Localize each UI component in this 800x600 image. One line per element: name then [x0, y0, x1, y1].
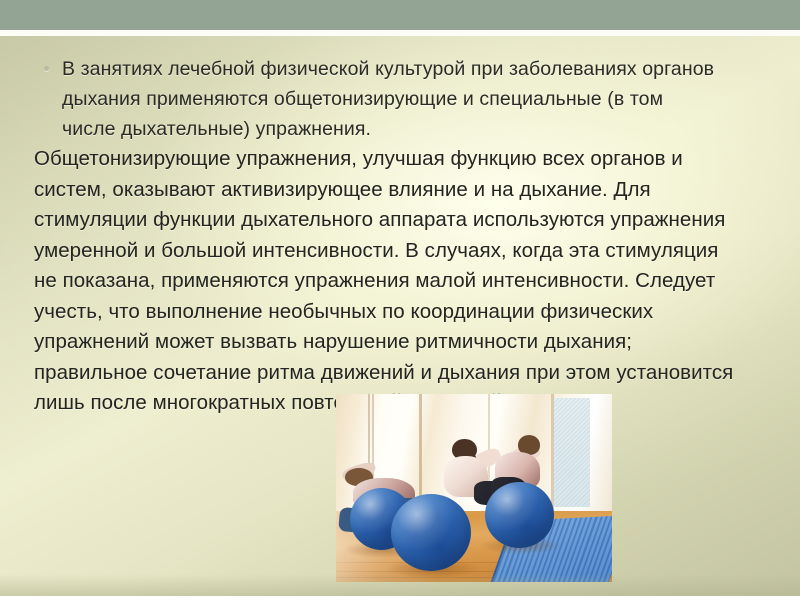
bullet-paragraph-text: В занятиях лечебной физической культурой…	[62, 58, 714, 140]
bullet-point-icon	[44, 66, 49, 71]
slide-text-block: В занятиях лечебной физической культурой…	[0, 36, 760, 419]
slide-photo	[336, 394, 612, 582]
photo-scene	[336, 394, 612, 582]
body-paragraph: Общетонизирующие упражнения, улучшая фун…	[0, 144, 760, 419]
bullet-paragraph: В занятиях лечебной физической культурой…	[0, 54, 760, 144]
viewer-top-band	[0, 0, 800, 30]
exercise-ball	[391, 494, 471, 571]
slide-canvas: В занятиях лечебной физической культурой…	[0, 36, 800, 596]
exercise-ball	[485, 482, 554, 548]
presentation-slide-viewer: В занятиях лечебной физической культурой…	[0, 0, 800, 600]
